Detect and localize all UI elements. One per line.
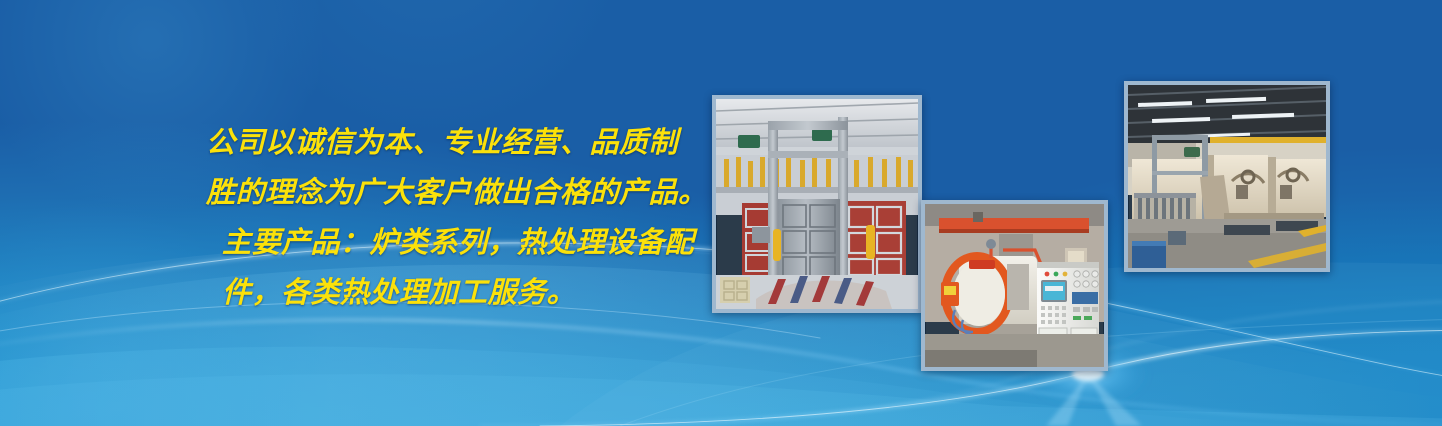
photo-vacuum-furnace [921, 200, 1108, 371]
light-rays [1046, 374, 1142, 426]
headline-block: 公司以诚信为本、专业经营、品质制 胜的理念为广大客户做出合格的产品。 主要产品：… [206, 118, 726, 318]
pit-furnace-illustration [716, 99, 918, 309]
ribbon-band-4 [0, 374, 1442, 426]
photo-pit-furnace-workshop [712, 95, 922, 313]
ribbon-band-3 [0, 347, 1442, 426]
photo-continuous-furnace-line [1124, 81, 1330, 272]
furnace-line-illustration [1128, 85, 1326, 268]
headline-line-1: 公司以诚信为本、专业经营、品质制 [206, 118, 726, 168]
photo-inner [1128, 85, 1326, 268]
headline-line-4: 件，各类热处理加工服务。 [206, 268, 726, 318]
headline-line-2: 胜的理念为广大客户做出合格的产品。 [206, 168, 726, 218]
vacuum-furnace-illustration [925, 204, 1104, 367]
promo-banner: 公司以诚信为本、专业经营、品质制 胜的理念为广大客户做出合格的产品。 主要产品：… [0, 0, 1442, 426]
headline-line-3: 主要产品：炉类系列，热处理设备配 [206, 218, 726, 268]
photo-inner [925, 204, 1104, 367]
photo-inner [716, 99, 918, 309]
